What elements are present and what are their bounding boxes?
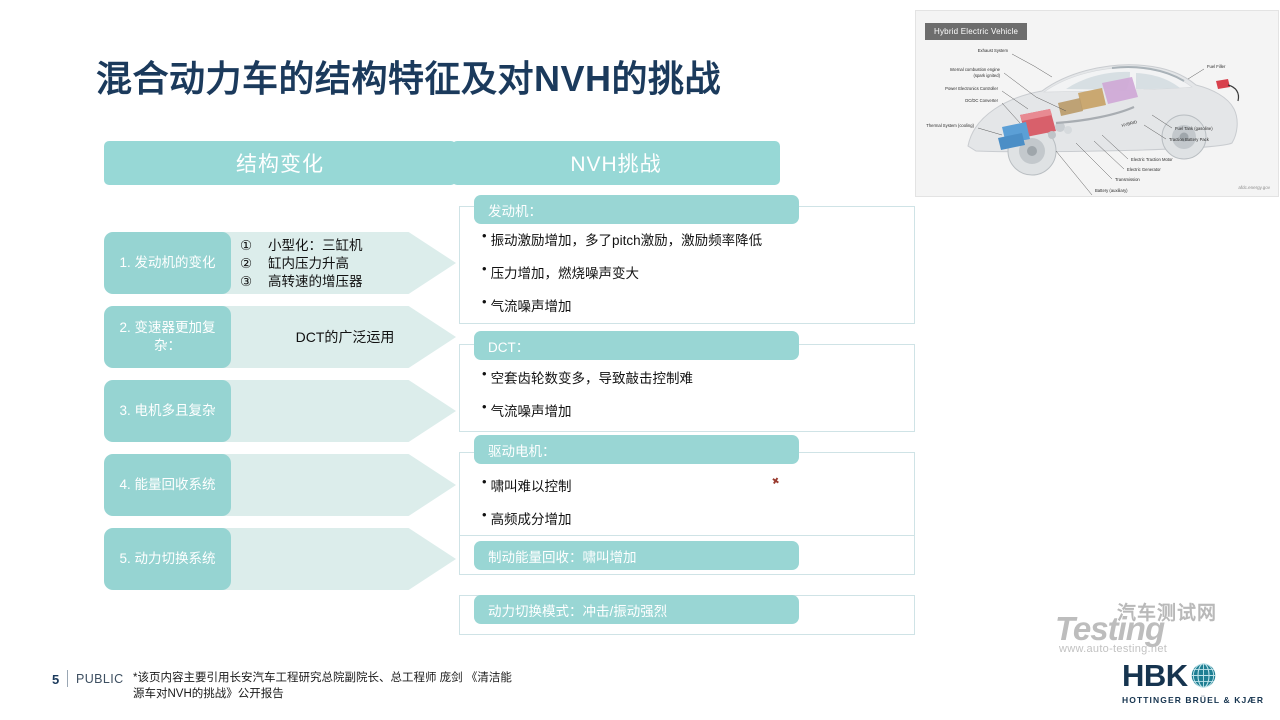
list-item: ③ 高转速的增压器 [240,273,363,290]
list-item: •振动激励增加，多了pitch激励，激励频率降低 [482,229,914,249]
list-text: 高转速的增压器 [268,273,363,290]
structure-row: 4. 能量回收系统 [104,454,456,516]
nvh-group-drive-motor: •啸叫难以控制 •高频成分增加 [459,452,915,540]
slide-root: 混合动力车的结构特征及对NVH的挑战 结构变化 NVH挑战 1. 发动机的变化 … [0,0,1280,720]
bullet-dot-icon: • [482,475,487,488]
list-item: •空套齿轮数变多，导致敲击控制难 [482,367,914,387]
list-number: ② [240,255,254,272]
car-label-traction-motor: Electric Traction Motor [1131,157,1173,162]
classification-label: PUBLIC [76,672,124,686]
car-label-fuel-tank: Fuel Tank (gasoline) [1175,126,1213,131]
bullet-text: 压力增加，燃烧噪声变大 [491,262,640,282]
hbk-wordmark: HBK [1122,660,1264,691]
bullet-text: 空套齿轮数变多，导致敲击控制难 [491,367,694,387]
car-label-exhaust: Exhaust System [978,48,1009,53]
nvh-label-brake-recovery[interactable]: 制动能量回收：啸叫增加 [474,541,799,570]
list-item: •高频成分增加 [482,508,914,528]
structure-row-5-content [240,528,450,590]
hybrid-vehicle-diagram: Hybrid Electric Vehicle [915,10,1279,197]
car-label-thermal: Thermal System (cooling) [926,123,974,128]
structure-pill-5[interactable]: 5. 动力切换系统 [104,528,231,590]
globe-icon [1190,662,1217,689]
footer-divider [67,670,68,687]
hbk-letters: HBK [1122,660,1188,691]
bullet-text: 振动激励增加，多了pitch激励，激励频率降低 [491,229,763,249]
bullet-text: 气流噪声增加 [491,295,572,315]
car-label-fuel-filler: Fuel Filler [1207,64,1226,69]
structure-row-3-content [240,380,450,442]
car-diagram-badge: Hybrid Electric Vehicle [925,23,1027,40]
list-item: ① 小型化：三缸机 [240,237,363,254]
car-label-generator: Electric Generator [1127,167,1161,172]
source-note: *该页内容主要引用长安汽车工程研究总院副院长、总工程师 庞剑 《清洁能源车对NV… [133,670,513,702]
bullet-dot-icon: • [482,367,487,380]
nvh-label-engine[interactable]: 发动机： [474,195,799,224]
bullet-text: 高频成分增加 [491,508,572,528]
car-label-aux-battery: Battery (auxiliary) [1095,188,1128,193]
column-header-structure: 结构变化 [104,141,456,185]
nvh-label-power-switch[interactable]: 动力切换模式：冲击/振动强烈 [474,595,799,624]
list-item: •压力增加，燃烧噪声变大 [482,262,914,282]
structure-row: 3. 电机多且复杂 [104,380,456,442]
bullet-dot-icon: • [482,229,487,242]
bullet-dot-icon: • [482,508,487,521]
structure-pill-1[interactable]: 1. 发动机的变化 [104,232,231,294]
nvh-motor-bullets: •啸叫难以控制 •高频成分增加 [460,453,914,544]
structure-pill-3[interactable]: 3. 电机多且复杂 [104,380,231,442]
column-header-nvh: NVH挑战 [452,141,780,185]
structure-row-2-content: DCT的广泛运用 [240,306,450,368]
list-item: •气流噪声增加 [482,400,914,420]
structure-row: 5. 动力切换系统 [104,528,456,590]
watermark-url: www.auto-testing.net [1059,643,1167,655]
bullet-dot-icon: • [482,400,487,413]
car-label-pec: Power Electronics Controller [945,86,998,91]
bullet-dot-icon: • [482,295,487,308]
nvh-label-dct[interactable]: DCT： [474,331,799,360]
list-item: •气流噪声增加 [482,295,914,315]
list-number: ③ [240,273,254,290]
list-text: 小型化：三缸机 [268,237,363,254]
page-number: 5 [52,672,59,687]
structure-row-1-content: ① 小型化：三缸机 ② 缸内压力升高 ③ 高转速的增压器 [240,232,450,294]
car-label-dcdc: DC/DC Converter [965,98,998,103]
site-watermark: 汽车测试网 Testing www.auto-testing.net [1055,598,1255,658]
structure-row: 1. 发动机的变化 ① 小型化：三缸机 ② 缸内压力升高 ③ 高转速的增压器 [104,232,456,294]
structure-pill-4[interactable]: 4. 能量回收系统 [104,454,231,516]
car-diagram-credit: afdc.energy.gov [1238,185,1270,190]
nvh-label-drive-motor[interactable]: 驱动电机： [474,435,799,464]
structure-row: 2. 变速器更加复杂： DCT的广泛运用 [104,306,456,368]
list-number: ① [240,237,254,254]
bullet-text: 气流噪声增加 [491,400,572,420]
structure-row-4-content [240,454,450,516]
car-label-ice: Internal combustion engine [950,67,1001,72]
car-label-transmission: Transmission [1115,177,1140,182]
hbk-tagline: HOTTINGER BRÜEL & KJÆR [1122,695,1264,705]
car-label-ice-sub: (spark ignited) [973,73,1000,78]
list-item: •啸叫难以控制 [482,475,914,495]
page-title: 混合动力车的结构特征及对NVH的挑战 [96,50,721,102]
list-text: 缸内压力升高 [268,255,349,272]
bullet-text: 啸叫难以控制 [491,475,572,495]
hbk-logo: HBK HOTTINGER BRÜEL & KJÆR [1122,660,1264,705]
structure-pill-2[interactable]: 2. 变速器更加复杂： [104,306,231,368]
nvh-engine-bullets: •振动激励增加，多了pitch激励，激励频率降低 •压力增加，燃烧噪声变大 •气… [460,207,914,331]
list-item: ② 缸内压力升高 [240,255,363,272]
bullet-dot-icon: • [482,262,487,275]
car-label-battery-pack: Traction Battery Pack [1169,137,1210,142]
